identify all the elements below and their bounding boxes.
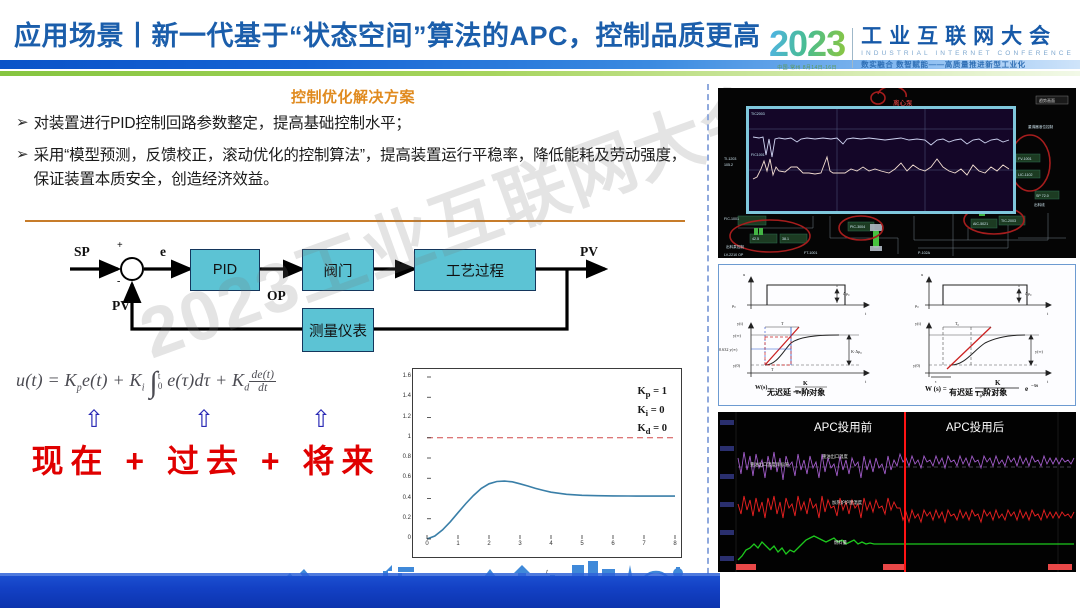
integral-limits: t0 [158,372,163,391]
term-plus-1: + [125,443,151,479]
slide-root: 应用场景丨新一代基于“状态空间”算法的APC，控制品质更高 2023 中国·常州… [0,0,1080,608]
up-arrow-icon: ⇧ [311,408,331,432]
up-arrow-icon: ⇧ [84,408,104,432]
svg-text:重沸器液位控制: 重沸器液位控制 [1028,124,1054,129]
term-past: 过去 [167,443,245,479]
bullet-text: 对装置进行PID控制回路参数整定，提高基础控制水平； [34,112,411,135]
svg-text:38.1: 38.1 [782,237,789,241]
integral-sign: ∫ [149,366,157,400]
step-response-chart: Kp = 1 Ki = 0 Kd = 0 t 00.20.40.60.811.2… [412,368,682,558]
chart-y-tick: 1.4 [394,393,411,399]
svg-text:P-102A: P-102A [918,251,931,255]
svg-text:FT-1001: FT-1001 [804,251,817,255]
svg-text:y(∞): y(∞) [733,333,741,338]
chart-y-tick: 1.2 [394,414,411,420]
svg-text:42.5: 42.5 [752,237,759,241]
logo-divider [852,28,853,68]
label-op: OP [267,288,286,304]
chart-y-tick: 1 [394,434,411,440]
section-title: 控制优化解决方案 [0,86,706,107]
svg-text:出料线: 出料线 [1034,202,1045,207]
svg-text:y(0): y(0) [913,363,921,368]
pid-block-diagram: PID 阀门 工艺过程 测量仪表 SP + - e OP PV PV [62,236,682,354]
svg-text:LV-2210 OP: LV-2210 OP [724,253,744,257]
apc-trend-chart [718,412,1076,572]
svg-text:K: K [995,379,1001,387]
footer-skyline [0,533,720,608]
logo-slogan: 数实融合 数智赋能——高质量推进新型工业化 [861,59,1074,70]
block-meter: 测量仪表 [302,308,374,352]
chart-y-tick: 0.6 [394,474,411,480]
time-terms-row: 现在 + 过去 + 将来 [16,436,396,482]
label-sp: SP [74,244,90,260]
trend-curves [749,109,1013,211]
svg-text:T₀: T₀ [955,321,960,326]
bullet-marker-icon: ➢ [16,112,29,135]
block-process: 工艺过程 [414,249,536,291]
logo-year: 2023 [769,26,845,62]
scada-screenshot-panel: TI-1203 105.2 FIC-1001 LV-2210 OP 42.5 3… [718,88,1076,258]
formula-lhs: u(t) = [16,370,60,390]
curve-label-furnace-temp: 加热炉炉膛温度 [832,500,862,506]
caption-no-delay: 无迟延 一阶对象 [767,387,825,398]
svg-text:y(∞): y(∞) [1035,349,1043,354]
svg-text:Δμ₀: Δμ₀ [1025,291,1032,296]
svg-text:e: e [1025,385,1028,393]
chart-y-tick: 0.2 [394,515,411,521]
list-item: ➢ 对装置进行PID控制回路参数整定，提高基础控制水平； [16,112,692,135]
first-order-diagrams: ut μ₀Δμ₀ y(t)t y(∞)0.632 y(∞)y(0) K·Δμ₀T… [719,265,1075,405]
label-error: e [160,244,166,260]
formula-term-arrows: ⇧ ⇧ ⇧ [30,408,390,438]
orange-divider [25,220,685,222]
sea-band [0,576,720,608]
svg-text:FV-1001: FV-1001 [1018,157,1032,161]
left-content-column: 控制优化解决方案 ➢ 对装置进行PID控制回路参数整定，提高基础控制水平； ➢ … [0,78,706,608]
logo-text-block: 工业互联网大会 INDUSTRIAL INTERNET CONFERENCE 数… [861,26,1074,70]
label-plus-sign: + [117,240,123,251]
trend-tag-2: FIC1001 [751,153,765,157]
chart-y-tick: 0.8 [394,454,411,460]
apc-split-line [904,412,906,572]
svg-text:出料泵控制: 出料泵控制 [726,244,744,249]
svg-text:趋势画面: 趋势画面 [1039,97,1055,103]
term-future: 将来 [302,443,380,479]
logo-conference-name-en: INDUSTRIAL INTERNET CONFERENCE [861,50,1074,57]
svg-text:K·Δμ₀: K·Δμ₀ [851,349,862,354]
svg-text:TI-1203: TI-1203 [724,157,736,161]
svg-text:y(0): y(0) [733,363,741,368]
block-pid: PID [190,249,260,291]
derivative-numerator: de(t) [249,369,276,383]
svg-text:μ₀: μ₀ [915,303,919,308]
svg-text:W (s) =: W (s) = [925,385,947,393]
bullet-marker-icon: ➢ [16,144,29,191]
annotation-kd: Kd = 0 [637,420,667,439]
formula-kp: K [65,370,77,390]
svg-text:Δμ₀: Δμ₀ [843,291,850,296]
svg-text:0.632 y(∞): 0.632 y(∞) [719,347,738,352]
formula-ki-sub: i [142,383,145,394]
apc-comparison-panel: APC投用前 APC投用后 重油出口温度目标值 重油出口温度 加热炉炉膛温度 燃… [718,412,1076,572]
logo-year-block: 2023 中国·常州 8月14日-16日 [769,26,852,71]
annotation-ki: Ki = 0 [637,402,667,421]
formula-kd: K [232,370,244,390]
logo-conference-name-cn: 工业互联网大会 [861,26,1074,48]
formula-integral-body: e(τ)dτ + [167,370,227,390]
svg-text:105.2: 105.2 [724,163,733,167]
integral-lower: 0 [158,381,163,391]
svg-text:TIC-2003: TIC-2003 [1001,219,1016,223]
bullet-text: 采用“模型预测，反馈校正，滚动优化的控制算法”，提高装置运行平稳率，降低能耗及劳… [34,144,692,191]
chart-gain-annotations: Kp = 1 Ki = 0 Kd = 0 [637,383,667,439]
logo-year-subtitle: 中国·常州 8月14日-16日 [777,64,837,71]
svg-text:T: T [771,367,774,372]
pid-formula: u(t) = Kpe(t) + Ki ∫t0 e(τ)dτ + Kdde(t)d… [16,366,406,400]
term-present: 现在 [32,443,110,479]
trend-tag-1: TIC2003 [751,112,765,116]
up-arrow-icon: ⇧ [194,408,214,432]
caption-with-delay: 有迟延 一阶对象 [949,387,1007,398]
label-pv-feedback: PV [112,298,130,314]
formula-derivative: de(t)dt [249,369,276,395]
first-order-identification-panel: ut μ₀Δμ₀ y(t)t y(∞)0.632 y(∞)y(0) K·Δμ₀T… [718,264,1076,406]
bullet-list: ➢ 对装置进行PID控制回路参数整定，提高基础控制水平； ➢ 采用“模型预测，反… [16,112,692,200]
list-item: ➢ 采用“模型预测，反馈校正，滚动优化的控制算法”，提高装置运行平稳率，降低能耗… [16,144,692,191]
curve-label-target: 重油出口温度目标值 [750,462,789,468]
conference-logo: 2023 中国·常州 8月14日-16日 工业互联网大会 INDUSTRIAL … [769,20,1074,76]
annotation-kp: Kp = 1 [637,383,667,402]
svg-text:y(t): y(t) [737,321,744,326]
column-divider [707,84,709,584]
svg-text:y(t): y(t) [915,321,922,326]
trend-window[interactable]: TIC2003 FIC1001 [746,106,1016,214]
curve-label-outlet-temp: 重油出口温度 [822,454,848,460]
svg-text:AIC-5021: AIC-5021 [973,222,988,226]
label-pv-output: PV [580,244,598,260]
chart-y-tick: 1.6 [394,373,411,379]
label-after-apc: APC投用后 [946,419,1004,435]
term-plus-2: + [261,443,287,479]
svg-text:T: T [781,321,784,326]
svg-text:FIC-1001: FIC-1001 [724,217,739,221]
svg-text:μ₀: μ₀ [732,303,736,308]
svg-text:SP 72.0: SP 72.0 [1036,194,1049,198]
label-minus-sign: - [117,276,120,287]
derivative-denominator: dt [249,382,276,395]
curve-label-fuel: 燃料量 [834,540,847,546]
page-title: 应用场景丨新一代基于“状态空间”算法的APC，控制品质更高 [14,14,761,53]
chart-y-tick: 0.4 [394,495,411,501]
formula-kp-rest: e(t) + [82,370,125,390]
svg-text:PIC-3004: PIC-3004 [850,225,865,229]
svg-text:−τs: −τs [1031,384,1038,389]
block-valve: 阀门 [302,249,374,291]
formula-ki: K [130,370,142,390]
svg-text:LIC-1102: LIC-1102 [1018,173,1033,177]
svg-text:W(s): W(s) [755,384,767,391]
label-before-apc: APC投用前 [814,419,872,435]
